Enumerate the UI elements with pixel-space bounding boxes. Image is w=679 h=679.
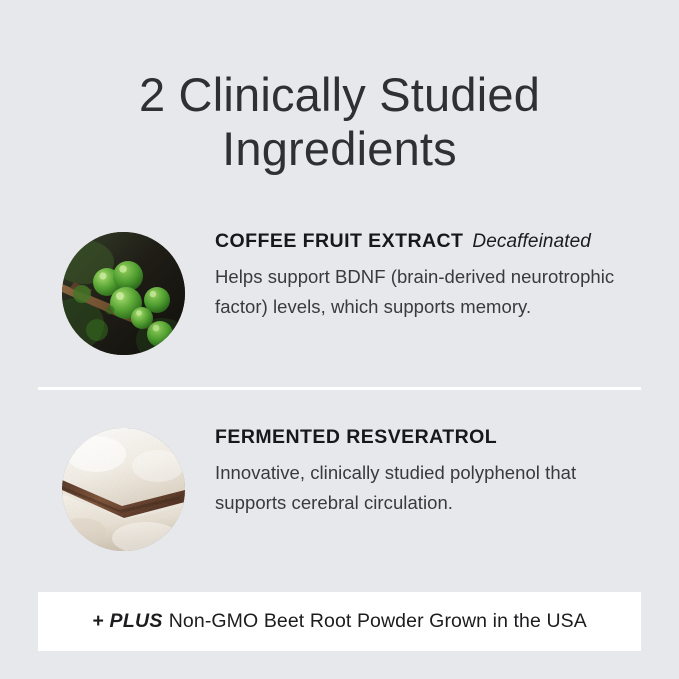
plus-label: + PLUS [92,610,169,632]
ingredient-name: FERMENTED RESVERATROL [215,426,497,448]
page-title-line-1: 2 Clinically Studied [0,68,679,122]
ingredient-qualifier [497,427,506,448]
ingredient-text-block: FERMENTED RESVERATROL Innovative, clinic… [215,424,645,518]
plus-banner: + PLUSNon-GMO Beet Root Powder Grown in … [38,592,641,651]
ingredient-text-block: COFFEE FRUIT EXTRACTDecaffeinated Helps … [215,228,645,322]
plus-banner-description: Non-GMO Beet Root Powder Grown in the US… [169,610,587,632]
coffee-cherries-photo [62,232,185,355]
white-powder-scoop-photo [62,428,185,551]
plus-banner-text: + PLUSNon-GMO Beet Root Powder Grown in … [92,610,587,633]
ingredient-qualifier: Decaffeinated [463,231,591,252]
section-divider [38,387,641,390]
ingredient-item-fermented-resveratrol: FERMENTED RESVERATROL Innovative, clinic… [0,424,679,564]
ingredient-heading: COFFEE FRUIT EXTRACTDecaffeinated [215,228,645,255]
ingredient-name: COFFEE FRUIT EXTRACT [215,230,463,252]
ingredient-description: Innovative, clinically studied polypheno… [215,458,647,518]
ingredients-infographic: 2 Clinically Studied Ingredients [0,0,679,679]
ingredient-item-coffee-fruit-extract: COFFEE FRUIT EXTRACTDecaffeinated Helps … [0,228,679,368]
ingredient-heading: FERMENTED RESVERATROL [215,424,645,451]
page-title: 2 Clinically Studied Ingredients [0,68,679,176]
page-title-line-2: Ingredients [0,122,679,176]
ingredient-description: Helps support BDNF (brain-derived neurot… [215,262,633,322]
